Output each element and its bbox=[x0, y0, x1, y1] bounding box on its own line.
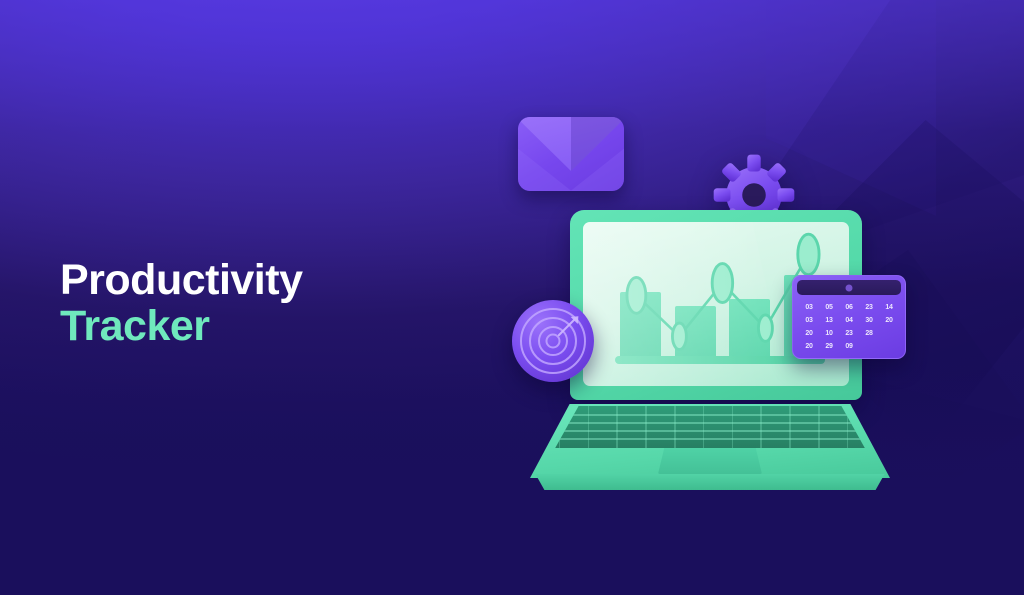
calendar-day[interactable]: 23 bbox=[840, 327, 858, 339]
calendar-header-dot bbox=[846, 284, 853, 291]
calendar-day[interactable] bbox=[880, 327, 898, 339]
productivity-illustration: 03 05 06 23 14 03 13 04 30 20 20 10 23 2… bbox=[500, 95, 930, 515]
laptop-keyboard bbox=[530, 406, 890, 448]
calendar-day[interactable] bbox=[880, 340, 898, 352]
calendar-day[interactable]: 23 bbox=[860, 301, 878, 313]
calendar-grid: 03 05 06 23 14 03 13 04 30 20 20 10 23 2… bbox=[800, 301, 898, 352]
calendar-day[interactable]: 04 bbox=[840, 314, 858, 326]
calendar-day[interactable]: 20 bbox=[800, 340, 818, 352]
dart-icon bbox=[555, 313, 581, 339]
page-title: Productivity Tracker bbox=[60, 258, 303, 349]
chart-trend-point bbox=[798, 234, 819, 274]
calendar-day[interactable]: 20 bbox=[800, 327, 818, 339]
calendar-day[interactable]: 10 bbox=[820, 327, 838, 339]
calendar-widget[interactable]: 03 05 06 23 14 03 13 04 30 20 20 10 23 2… bbox=[792, 275, 906, 359]
calendar-header bbox=[797, 280, 901, 295]
calendar-day[interactable]: 29 bbox=[820, 340, 838, 352]
title-line-accent: Tracker bbox=[60, 304, 303, 350]
laptop-trackpad bbox=[658, 448, 762, 474]
target-icon bbox=[512, 300, 594, 382]
laptop-base-lip bbox=[530, 474, 890, 490]
title-line-primary: Productivity bbox=[60, 258, 303, 304]
gear-hub bbox=[742, 183, 766, 207]
calendar-day[interactable]: 14 bbox=[880, 301, 898, 313]
calendar-day[interactable]: 05 bbox=[820, 301, 838, 313]
calendar-day[interactable]: 03 bbox=[800, 314, 818, 326]
calendar-day[interactable]: 20 bbox=[880, 314, 898, 326]
calendar-day[interactable] bbox=[860, 340, 878, 352]
calendar-day[interactable]: 03 bbox=[800, 301, 818, 313]
calendar-day[interactable]: 13 bbox=[820, 314, 838, 326]
calendar-day[interactable]: 30 bbox=[860, 314, 878, 326]
calendar-day[interactable]: 28 bbox=[860, 327, 878, 339]
calendar-day[interactable]: 09 bbox=[840, 340, 858, 352]
hero-banner: Productivity Tracker bbox=[0, 0, 1024, 595]
calendar-day[interactable]: 06 bbox=[840, 301, 858, 313]
envelope-icon bbox=[518, 117, 624, 191]
